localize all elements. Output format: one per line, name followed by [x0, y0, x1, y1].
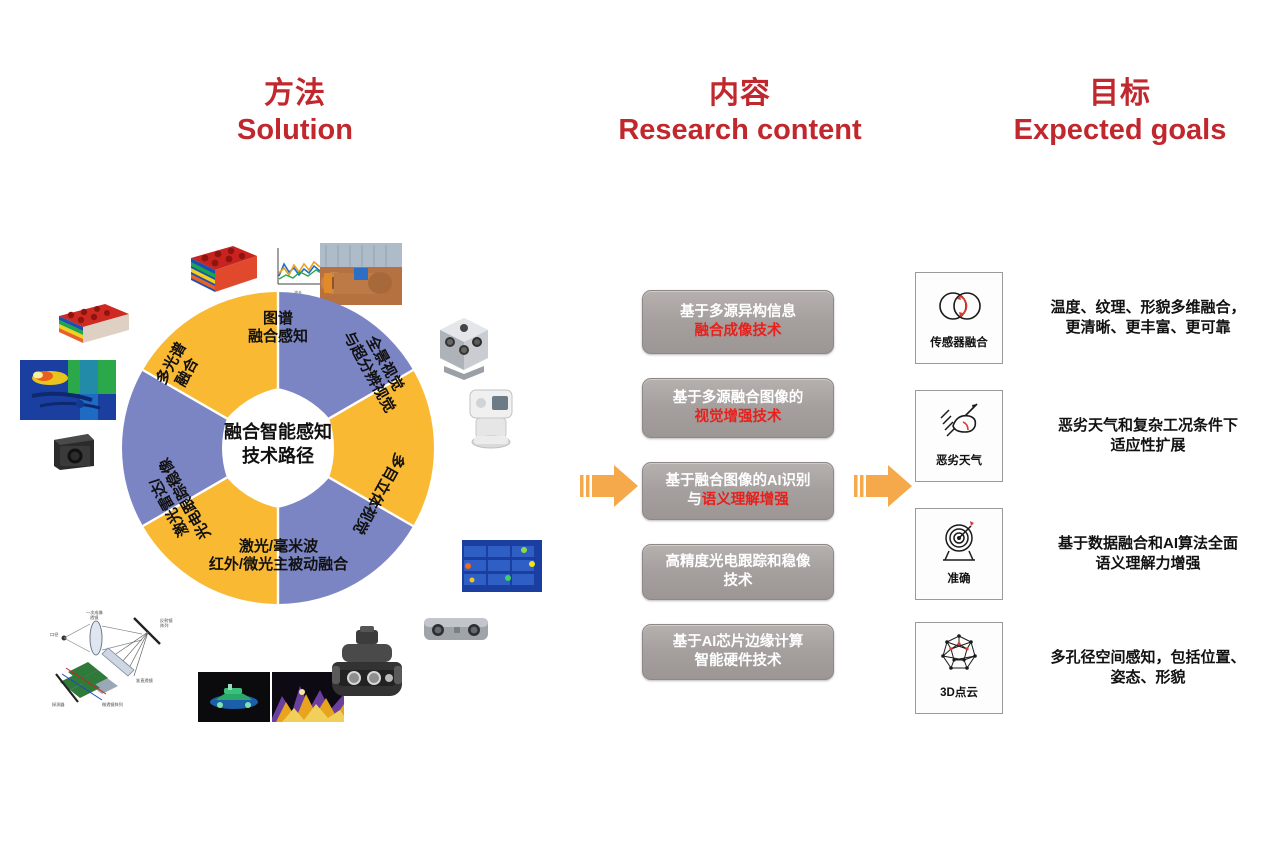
stereo-camera-thumb — [420, 608, 492, 652]
tech-box-2-line2: 语义理解增强 — [702, 492, 789, 508]
column-header-content-cn: 内容 — [595, 76, 885, 111]
goal-card-0-caption: 传感器融合 — [930, 334, 988, 350]
lidar-wall-scan-thumb — [462, 540, 542, 592]
column-header-goals: 目标 Expected goals — [975, 76, 1265, 148]
goal-text-1: 恶劣天气和复杂工况条件下 适应性扩展 — [1023, 416, 1268, 457]
column-header-goals-en: Expected goals — [975, 113, 1265, 147]
diagram-canvas: 方法 Solution 内容 Research content 目标 Expec… — [0, 0, 1268, 866]
sensor-fusion-icon — [933, 282, 985, 330]
bad-weather-icon — [933, 400, 985, 448]
goal-row-0: 传感器融合 温度、纹理、形貌多维融合， 更清晰、更丰富、更可靠 — [915, 272, 1263, 364]
goal-row-2: 准确 基于数据融合和AI算法全面 语义理解力增强 — [915, 508, 1263, 600]
tech-box-4-line2: 智能硬件技术 — [695, 653, 782, 669]
goal-card-3[interactable]: 3D点云 — [915, 622, 1003, 714]
tech-box-0-line2: 融合成像技术 — [695, 323, 782, 339]
svg-text:微透镜阵列: 微透镜阵列 — [102, 701, 123, 708]
gimbal-turret-thumb — [330, 626, 404, 706]
target-icon — [933, 518, 985, 566]
night-vision-vehicle-thumb — [198, 672, 270, 722]
ptz-camera-thumb — [462, 386, 520, 452]
tech-box-3-line1: 高精度光电跟踪和稳像 — [666, 554, 811, 570]
arrow-solution-to-content — [578, 461, 640, 516]
thermal-image-thumb — [20, 360, 116, 420]
svg-text:透镜: 透镜 — [90, 614, 99, 621]
point-cloud-icon — [933, 632, 985, 680]
goal-card-1-caption: 恶劣天气 — [936, 452, 982, 468]
optical-ray-diagram-thumb: 口径 一次成像 透镜 反射镜 阵列 准直透镜 微透镜阵列 探测器 — [42, 598, 192, 710]
tech-box-4[interactable]: 基于AI芯片边缘计算 智能硬件技术 — [642, 624, 834, 680]
thermal-camera-thumb — [48, 428, 100, 474]
tech-box-4-line1: 基于AI芯片边缘计算 — [673, 634, 804, 650]
goal-row-1: 恶劣天气 恶劣天气和复杂工况条件下 适应性扩展 — [915, 390, 1263, 482]
goal-card-2-caption: 准确 — [948, 570, 971, 586]
goal-card-1[interactable]: 恶劣天气 — [915, 390, 1003, 482]
svg-text:探测器: 探测器 — [52, 701, 65, 708]
goal-row-3: 3D点云 多孔径空间感知，包括位置、 姿态、形貌 — [915, 622, 1263, 714]
tech-box-2[interactable]: 基于融合图像的AI识别 与语义理解增强 — [642, 462, 834, 520]
tech-box-1-line1: 基于多源融合图像的 — [673, 390, 804, 406]
column-header-content-en: Research content — [595, 113, 885, 147]
svg-text:口径: 口径 — [50, 631, 58, 637]
tech-box-3-line2: 技术 — [724, 573, 753, 589]
tech-box-0[interactable]: 基于多源异构信息 融合成像技术 — [642, 290, 834, 354]
svg-text:准直透镜: 准直透镜 — [136, 677, 154, 684]
goal-card-2[interactable]: 准确 — [915, 508, 1003, 600]
goal-card-3-caption: 3D点云 — [940, 684, 978, 700]
arrow-content-to-goals — [852, 461, 914, 516]
tech-box-1-line2: 视觉增强技术 — [695, 409, 782, 425]
column-header-solution-en: Solution — [155, 113, 435, 147]
column-header-goals-cn: 目标 — [975, 76, 1265, 111]
tech-box-3[interactable]: 高精度光电跟踪和稳像 技术 — [642, 544, 834, 600]
tech-box-2-line2-prefix: 与 — [687, 492, 702, 508]
column-header-content: 内容 Research content — [595, 76, 885, 148]
tech-box-0-line1: 基于多源异构信息 — [680, 304, 796, 320]
column-header-solution: 方法 Solution — [155, 76, 435, 148]
tech-box-2-line1: 基于融合图像的AI识别 — [666, 473, 811, 489]
goal-text-0: 温度、纹理、形貌多维融合， 更清晰、更丰富、更可靠 — [1023, 298, 1268, 339]
goal-card-0[interactable]: 传感器融合 — [915, 272, 1003, 364]
column-header-solution-cn: 方法 — [155, 76, 435, 111]
panoramic-camera-thumb — [430, 310, 498, 382]
tech-box-1[interactable]: 基于多源融合图像的 视觉增强技术 — [642, 378, 834, 438]
technology-wheel: 图谱 融合感知 全景视觉 与超分辨视觉 多目立体视觉 激光/毫米波 红外/微光主… — [118, 288, 438, 608]
wheel-center-text: 融合智能感知 技术路径 — [178, 420, 378, 469]
goal-text-3: 多孔径空间感知，包括位置、 姿态、形貌 — [1023, 648, 1268, 689]
goal-text-2: 基于数据融合和AI算法全面 语义理解力增强 — [1023, 534, 1268, 575]
svg-text:阵列: 阵列 — [160, 622, 168, 629]
